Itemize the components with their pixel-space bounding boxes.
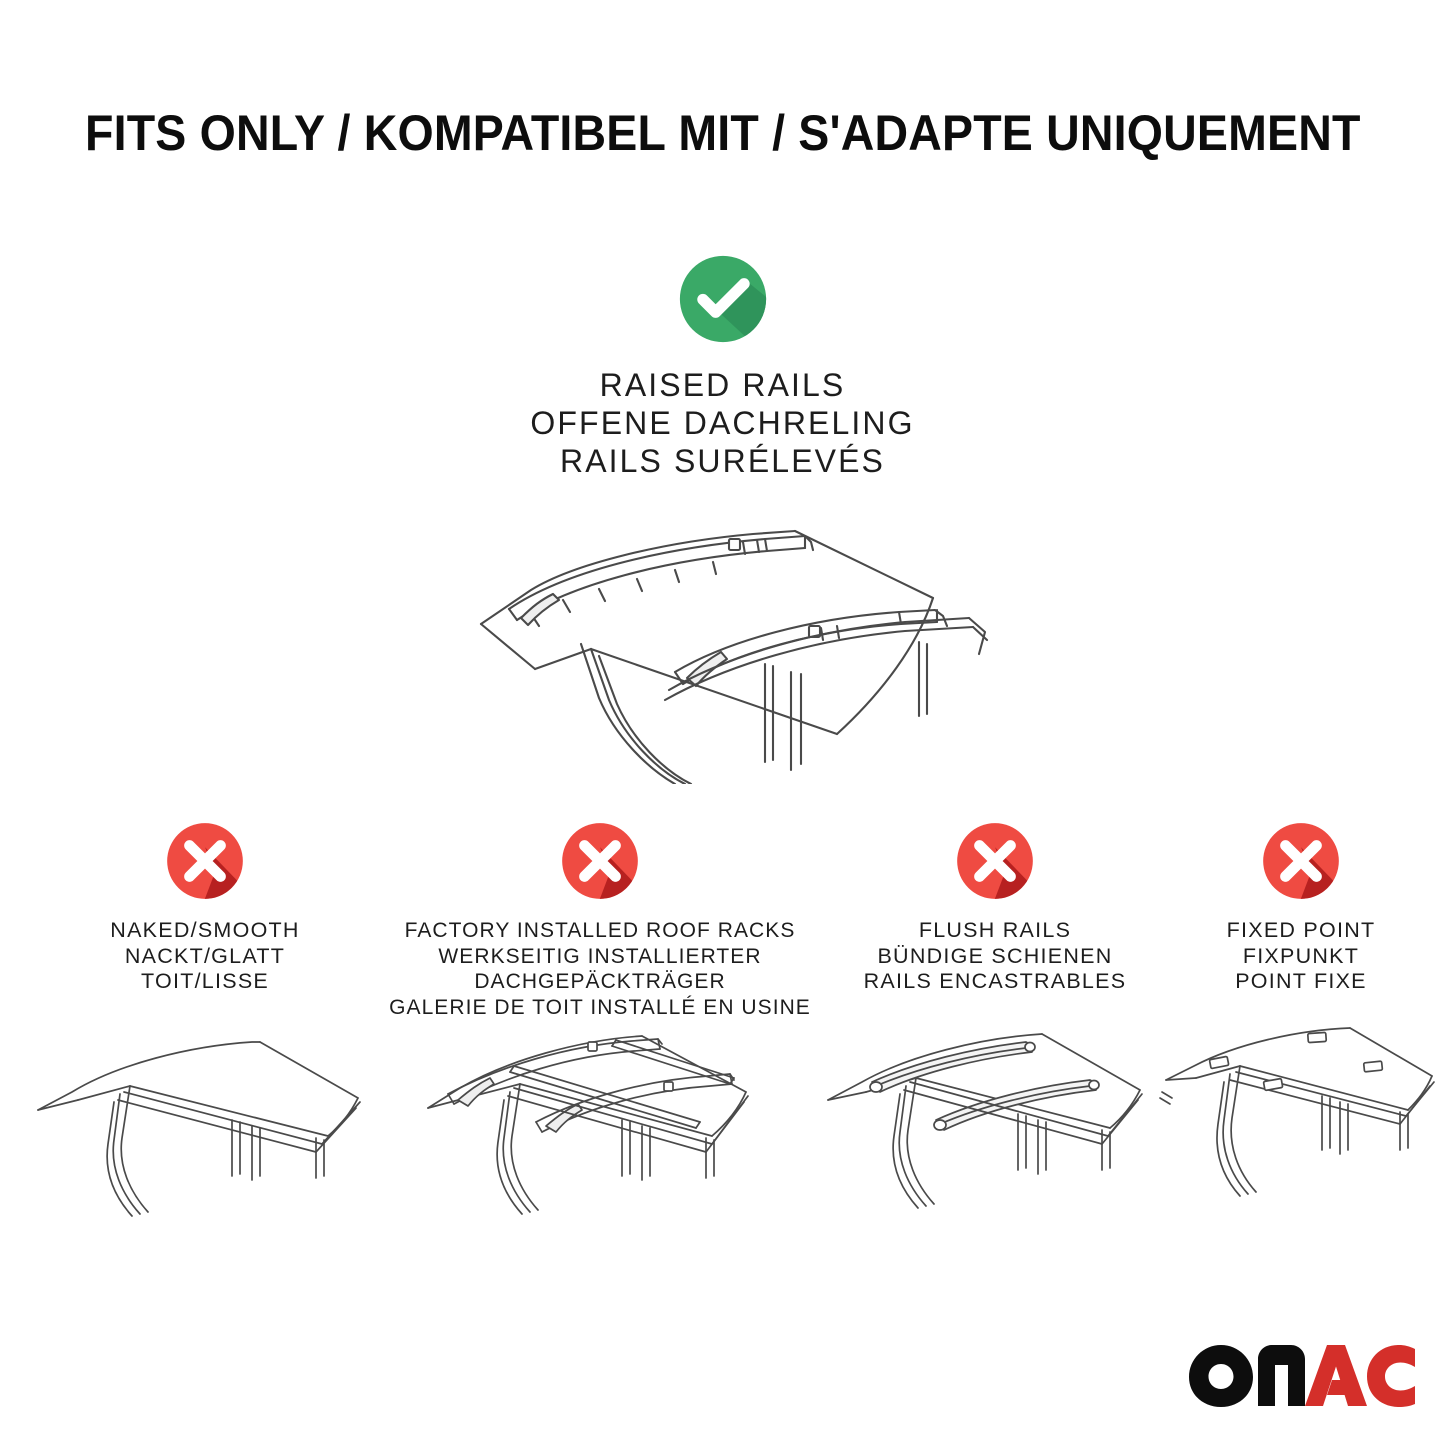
x-circle-icon xyxy=(557,818,643,904)
item-label-en: NAKED/SMOOTH xyxy=(10,918,400,944)
x-circle-icon xyxy=(952,818,1038,904)
omac-logo xyxy=(1187,1343,1417,1407)
x-circle-icon xyxy=(1258,818,1344,904)
item-labels: FACTORY INSTALLED ROOF RACKS WERKSEITIG … xyxy=(382,918,818,1020)
incompatible-item-factory-racks: FACTORY INSTALLED ROOF RACKS WERKSEITIG … xyxy=(382,818,818,1241)
check-circle-icon xyxy=(674,250,772,348)
item-label-de: BÜNDIGE SCHIENEN xyxy=(800,944,1190,970)
item-label-en: FIXED POINT xyxy=(1160,918,1442,944)
item-label-de-1: WERKSEITIG INSTALLIERTER xyxy=(382,944,818,970)
item-labels: FIXED POINT FIXPUNKT POINT FIXE xyxy=(1160,918,1442,1014)
car-roof-fixed-point-illustration xyxy=(1160,1020,1442,1235)
incompatible-item-naked-smooth: NAKED/SMOOTH NACKT/GLATT TOIT/LISSE xyxy=(10,818,400,1235)
compatible-labels: RAISED RAILS OFFENE DACHRELING RAILS SUR… xyxy=(0,366,1445,480)
item-label-de-2: DACHGEPÄCKTRÄGER xyxy=(382,969,818,995)
car-roof-naked-illustration xyxy=(10,1020,400,1235)
item-label-de: NACKT/GLATT xyxy=(10,944,400,970)
incompatible-section: NAKED/SMOOTH NACKT/GLATT TOIT/LISSE xyxy=(0,818,1445,1248)
compatible-label-en: RAISED RAILS xyxy=(0,366,1445,404)
incompatible-item-fixed-point: FIXED POINT FIXPUNKT POINT FIXE xyxy=(1160,818,1442,1235)
item-label-fr: TOIT/LISSE xyxy=(10,969,400,995)
car-roof-factory-racks-illustration xyxy=(382,1026,818,1241)
car-roof-raised-rails-illustration xyxy=(0,494,1445,784)
x-circle-icon xyxy=(162,818,248,904)
item-label-en: FLUSH RAILS xyxy=(800,918,1190,944)
car-roof-flush-rails-illustration xyxy=(800,1020,1190,1235)
compatible-section: RAISED RAILS OFFENE DACHRELING RAILS SUR… xyxy=(0,250,1445,784)
page-title: FITS ONLY / KOMPATIBEL MIT / S'ADAPTE UN… xyxy=(85,104,1361,162)
item-label-fr: RAILS ENCASTRABLES xyxy=(800,969,1190,995)
item-label-fr: GALERIE DE TOIT INSTALLÉ EN USINE xyxy=(382,995,818,1021)
compatible-label-fr: RAILS SURÉLEVÉS xyxy=(0,442,1445,480)
item-labels: FLUSH RAILS BÜNDIGE SCHIENEN RAILS ENCAS… xyxy=(800,918,1190,1014)
item-label-en: FACTORY INSTALLED ROOF RACKS xyxy=(382,918,818,944)
item-labels: NAKED/SMOOTH NACKT/GLATT TOIT/LISSE xyxy=(10,918,400,1014)
compatible-label-de: OFFENE DACHRELING xyxy=(0,404,1445,442)
page-title-bar: FITS ONLY / KOMPATIBEL MIT / S'ADAPTE UN… xyxy=(0,104,1445,162)
item-label-fr: POINT FIXE xyxy=(1160,969,1442,995)
incompatible-item-flush-rails: FLUSH RAILS BÜNDIGE SCHIENEN RAILS ENCAS… xyxy=(800,818,1190,1235)
item-label-de: FIXPUNKT xyxy=(1160,944,1442,970)
